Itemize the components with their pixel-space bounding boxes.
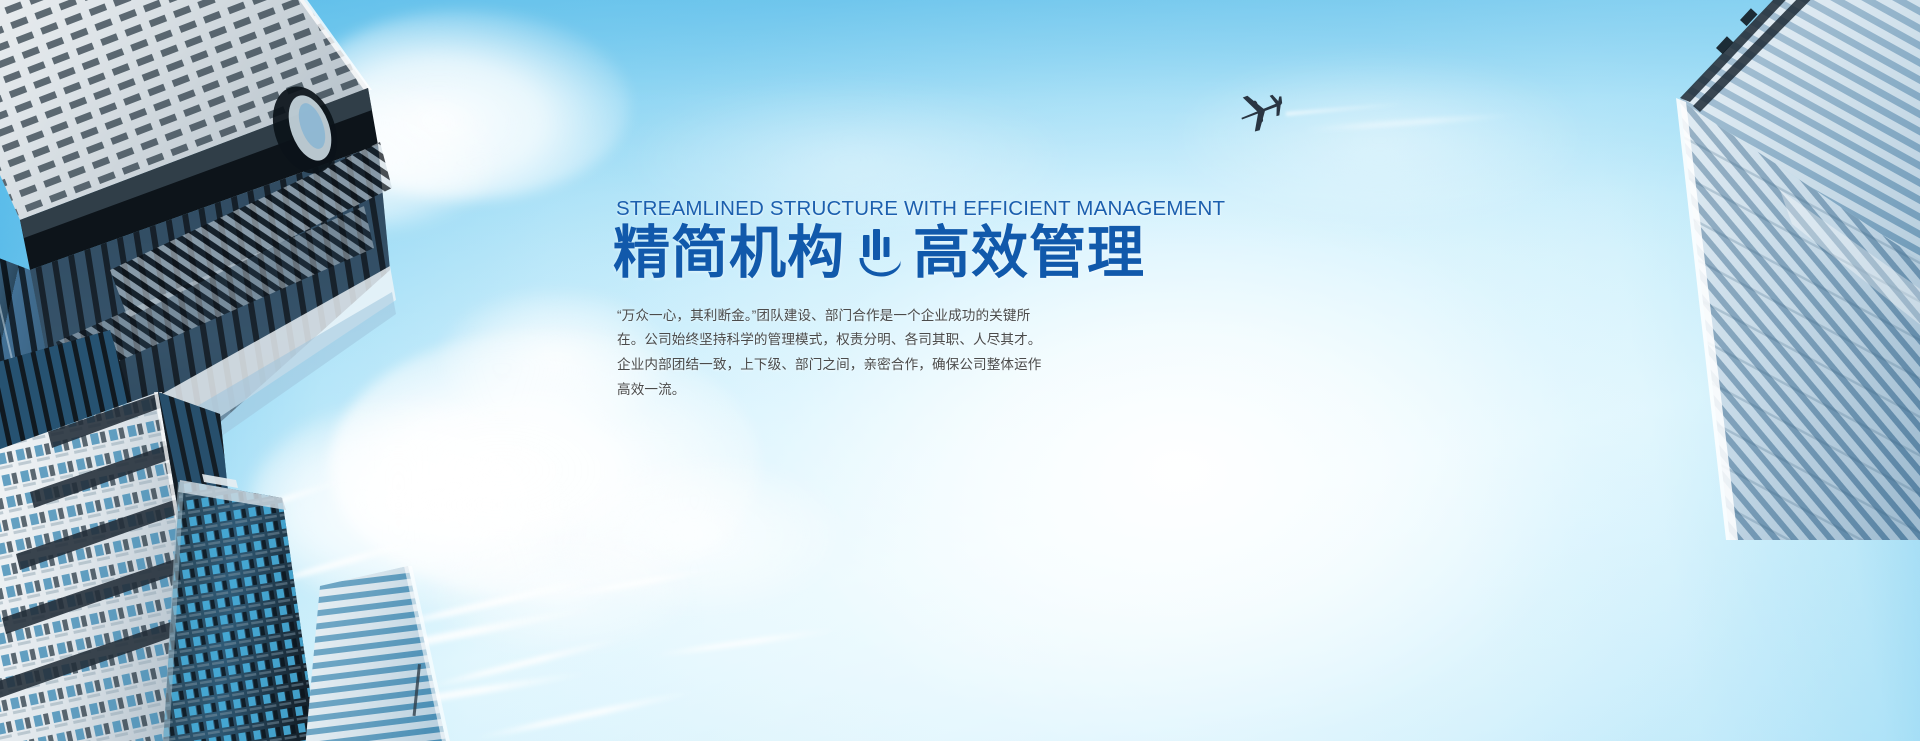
airplane-icon [1233,86,1289,134]
hero-copy-block: STREAMLINED STRUCTURE WITH EFFICIENT MAN… [613,198,1313,402]
headline-right-phrase: 高效管理 [913,225,1145,282]
company-swoosh-mark-icon [857,227,903,279]
page-title: 精简机构 高效管理 [613,225,1313,282]
hero-description: “万众一心，其利断金。”团队建设、部门合作是一个企业成功的关键所在。公司始终坚持… [617,304,1042,403]
headline-left-phrase: 精简机构 [613,225,845,282]
hero-eyebrow-text: STREAMLINED STRUCTURE WITH EFFICIENT MAN… [616,198,1313,221]
hero-description-text: “万众一心，其利断金。”团队建设、部门合作是一个企业成功的关键所在。公司始终坚持… [617,304,1042,403]
hero-banner: STREAMLINED STRUCTURE WITH EFFICIENT MAN… [0,0,1920,741]
skyscraper-icon [1530,0,1920,540]
skyscraper-icon [300,560,470,741]
